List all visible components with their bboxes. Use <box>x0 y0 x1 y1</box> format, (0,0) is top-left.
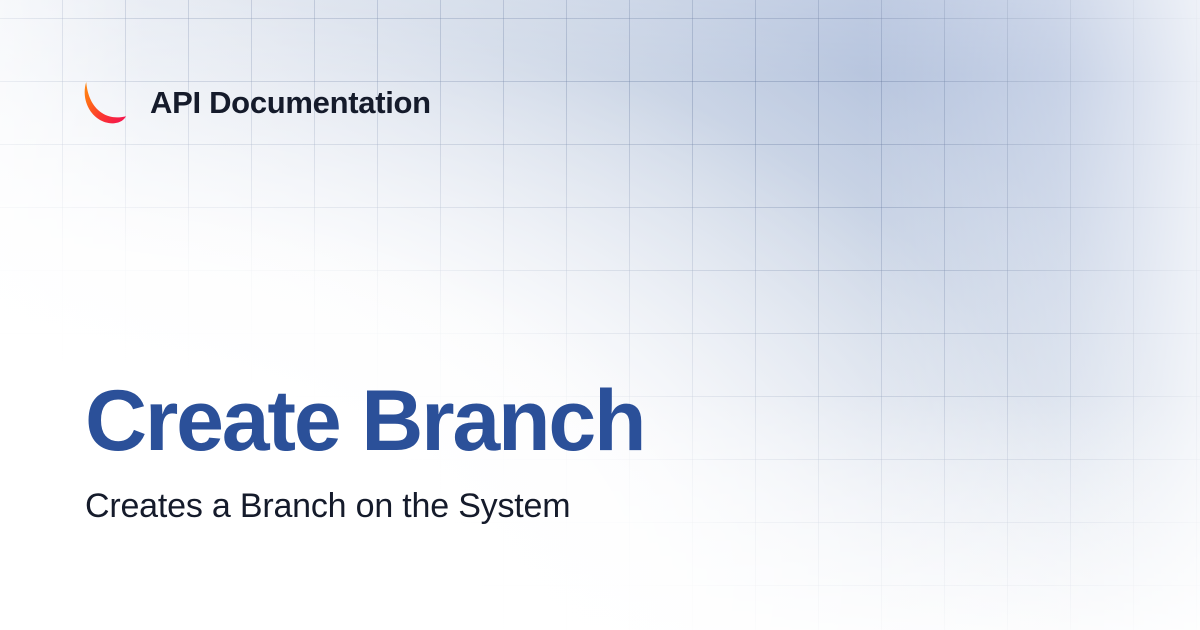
brand-header: API Documentation <box>78 76 431 128</box>
swoosh-crescent-logo-icon <box>78 80 134 124</box>
hero-copy: Create Branch Creates a Branch on the Sy… <box>85 378 1085 527</box>
brand-name: API Documentation <box>150 87 431 118</box>
page-title: Create Branch <box>85 378 1085 466</box>
page-subtitle: Creates a Branch on the System <box>85 486 1085 527</box>
og-card: API Documentation Create Branch Creates … <box>0 0 1200 630</box>
